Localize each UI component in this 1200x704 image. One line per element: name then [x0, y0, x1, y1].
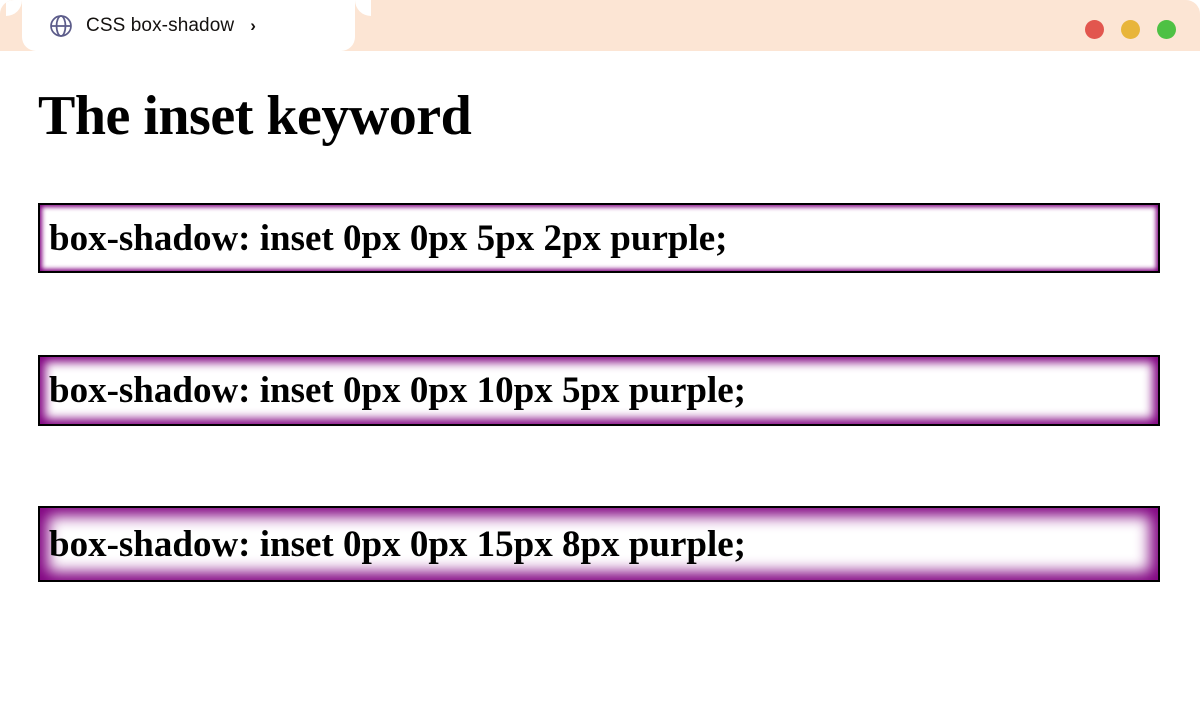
close-button[interactable]	[1085, 20, 1104, 39]
tab-strip: CSS box-shadow ›	[0, 0, 1200, 51]
browser-window: CSS box-shadow › The inset keyword box-s…	[0, 0, 1200, 704]
chevron-right-icon[interactable]: ›	[250, 17, 256, 34]
shadow-demo-label: box-shadow: inset 0px 0px 15px 8px purpl…	[49, 526, 746, 563]
shadow-demo-label: box-shadow: inset 0px 0px 10px 5px purpl…	[49, 372, 746, 409]
tab-corner-left	[6, 0, 22, 16]
globe-icon	[48, 13, 74, 39]
page-title: The inset keyword	[38, 88, 471, 144]
shadow-demo-box-3: box-shadow: inset 0px 0px 15px 8px purpl…	[38, 506, 1160, 582]
page-content: The inset keyword box-shadow: inset 0px …	[0, 51, 1200, 704]
window-controls	[1085, 20, 1176, 39]
tab-corner-right	[355, 0, 371, 16]
maximize-button[interactable]	[1157, 20, 1176, 39]
shadow-demo-box-2: box-shadow: inset 0px 0px 10px 5px purpl…	[38, 355, 1160, 426]
browser-tab-css-box-shadow[interactable]: CSS box-shadow ›	[22, 0, 355, 51]
shadow-demo-box-1: box-shadow: inset 0px 0px 5px 2px purple…	[38, 203, 1160, 273]
minimize-button[interactable]	[1121, 20, 1140, 39]
tab-title: CSS box-shadow	[86, 15, 234, 37]
shadow-demo-label: box-shadow: inset 0px 0px 5px 2px purple…	[49, 220, 727, 257]
